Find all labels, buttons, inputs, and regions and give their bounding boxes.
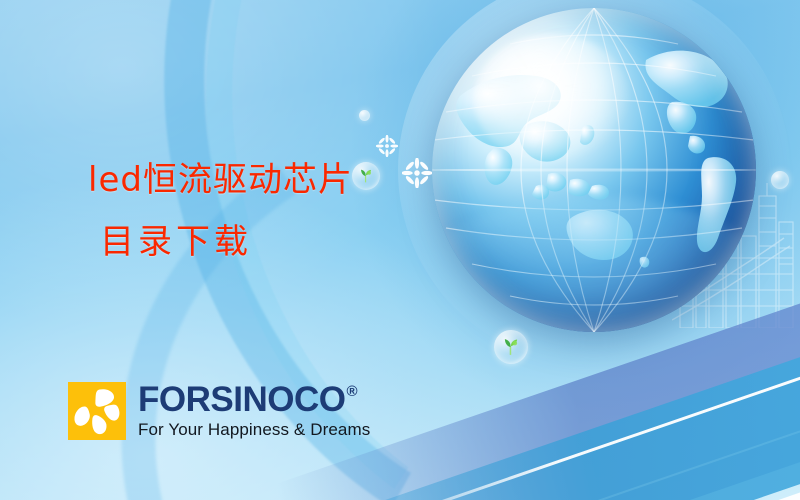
- brand-name-row: FORSINOCO ®: [138, 382, 370, 417]
- brand-tagline: For Your Happiness & Dreams: [138, 420, 370, 440]
- brand-text-lockup: FORSINOCO ® For Your Happiness & Dreams: [138, 382, 370, 440]
- bubble-icon: [359, 110, 370, 121]
- four-petal-pinwheel-icon: [68, 382, 126, 440]
- pinwheel-petals: [68, 382, 126, 440]
- registered-trademark-icon: ®: [346, 384, 357, 399]
- headline: led恒流驱动芯片 目录下载: [0, 160, 420, 262]
- headline-line-2: 目录下载: [100, 222, 420, 262]
- starburst-sparkle-icon: [376, 135, 398, 157]
- headline-line-1: led恒流驱动芯片: [88, 160, 420, 200]
- diagonal-band-white-icon: [321, 397, 800, 500]
- globe-icon: [432, 8, 756, 332]
- globe-rim-light: [432, 8, 756, 332]
- brand-name: FORSINOCO: [138, 382, 345, 417]
- diagonal-band-icon: [409, 461, 800, 500]
- globe-sphere: [432, 8, 756, 332]
- promo-banner: led恒流驱动芯片 目录下载 FORSINOCO ® For Your Happ…: [0, 0, 800, 500]
- brand-logo: FORSINOCO ® For Your Happiness & Dreams: [68, 382, 370, 440]
